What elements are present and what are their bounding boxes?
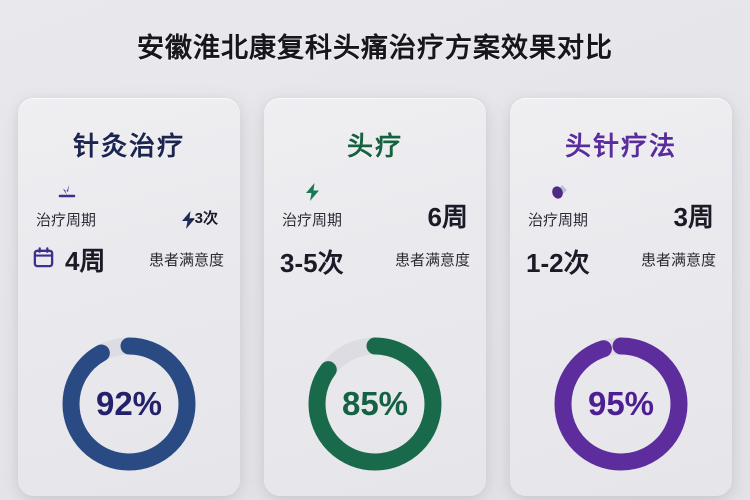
satisfaction-percent: 92%: [55, 330, 203, 478]
sessions-value: 1-2次: [526, 243, 590, 280]
satisfaction-donut: 85%: [301, 330, 449, 478]
satisfaction-donut-wrap: 95%: [510, 330, 732, 478]
cycle-value-group: 4周: [32, 241, 105, 278]
satisfaction-label: 患者满意度: [149, 249, 224, 270]
comparison-cards-row: 针灸治疗 治疗周期 -3次: [18, 98, 732, 496]
lightning-bolt-icon: [302, 181, 324, 203]
cycle-value: 3周: [674, 197, 714, 234]
satisfaction-donut-wrap: 85%: [264, 330, 486, 478]
satisfaction-label: 患者满意度: [641, 249, 716, 270]
card-title: 头针疗法: [510, 126, 732, 163]
card-metrics: 治疗周期 6周 3-5次 患者满意度: [264, 181, 486, 281]
satisfaction-donut-wrap: 92%: [18, 330, 240, 478]
cycle-value: 6周: [428, 197, 468, 234]
cycle-icon: [56, 181, 78, 203]
treatment-card-acupuncture[interactable]: 针灸治疗 治疗周期 -3次: [18, 98, 240, 496]
treatment-card-head-therapy[interactable]: 头疗 治疗周期 6周 3-5次 患者满意度 85%: [264, 98, 486, 496]
satisfaction-percent: 95%: [547, 330, 695, 478]
sessions-value: -3次: [190, 207, 218, 228]
card-metrics: 治疗周期 -3次 4周 患者: [18, 181, 240, 281]
card-title: 头疗: [264, 126, 486, 163]
droplet-icon: [548, 181, 570, 203]
satisfaction-donut: 92%: [55, 330, 203, 478]
cycle-label: 治疗周期: [528, 209, 588, 230]
calendar-icon: [32, 246, 55, 274]
sessions-value: 3-5次: [280, 243, 344, 280]
cycle-label: 治疗周期: [36, 209, 96, 230]
satisfaction-label: 患者满意度: [395, 249, 470, 270]
cycle-label: 治疗周期: [282, 209, 342, 230]
satisfaction-percent: 85%: [301, 330, 449, 478]
card-title: 针灸治疗: [18, 126, 240, 163]
card-metrics: 治疗周期 3周 1-2次 患者满意度: [510, 181, 732, 281]
treatment-card-scalp-acupuncture[interactable]: 头针疗法 治疗周期 3周 1-2次 患者满意度 95%: [510, 98, 732, 496]
page-title: 安徽淮北康复科头痛治疗方案效果对比: [0, 0, 750, 65]
cycle-value: 4周: [65, 241, 105, 278]
satisfaction-donut: 95%: [547, 330, 695, 478]
